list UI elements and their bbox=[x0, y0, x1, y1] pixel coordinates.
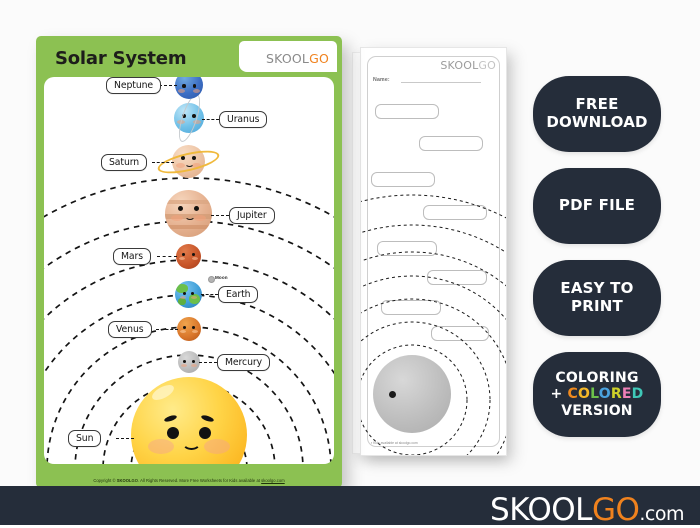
mercury-eye-left bbox=[183, 360, 186, 363]
neptune-blush-left bbox=[178, 89, 185, 93]
badge-line-2: DOWNLOAD bbox=[546, 113, 647, 131]
earth-eye-right bbox=[191, 292, 194, 295]
mars-eye-left bbox=[182, 253, 185, 256]
badge-pdf-file[interactable]: PDF FILE bbox=[533, 168, 661, 244]
label-pill-neptune[interactable]: Neptune bbox=[106, 77, 161, 94]
badge-easy-to-print[interactable]: EASY TO PRINT bbox=[533, 260, 661, 336]
sun-eye-right bbox=[199, 427, 211, 439]
screenshot-stage: SKOOLGO Name: r Kids available at skoolg bbox=[0, 0, 700, 525]
jupiter-band bbox=[165, 200, 212, 204]
moon-icon bbox=[208, 276, 215, 283]
leader-line-mercury bbox=[199, 362, 217, 363]
label-pill-mercury[interactable]: Mercury bbox=[217, 354, 270, 371]
mars-blush-right bbox=[192, 257, 198, 260]
leader-line-uranus bbox=[202, 119, 219, 120]
sun-brow-left bbox=[164, 414, 178, 423]
earth-eye-left bbox=[183, 292, 186, 295]
label-pill-earth[interactable]: Earth bbox=[218, 286, 258, 303]
leader-line-saturn bbox=[152, 162, 174, 163]
mercury-blush-left bbox=[181, 364, 187, 367]
leader-line-earth bbox=[201, 294, 218, 295]
leader-line-jupiter bbox=[211, 215, 229, 216]
worksheet-canvas: Moon bbox=[44, 77, 334, 464]
mercury-blush-right bbox=[191, 364, 197, 367]
jupiter-band bbox=[165, 225, 212, 229]
badge-line-1: COLORING bbox=[555, 370, 638, 386]
leader-line-mars bbox=[157, 256, 177, 257]
background-worksheet-front: SKOOLGO Name: r Kids available at skoolg bbox=[360, 47, 507, 456]
jupiter-eye-right bbox=[194, 206, 199, 211]
badge-line-1: FREE bbox=[575, 95, 618, 113]
venus-eye-right bbox=[192, 326, 195, 329]
label-pill-mars[interactable]: Mars bbox=[113, 248, 151, 265]
ghost-copyright: r Kids available at skoolgo.com bbox=[371, 441, 418, 445]
planet-mars bbox=[176, 244, 201, 269]
label-pill-saturn[interactable]: Saturn bbox=[101, 154, 147, 171]
mars-eye-right bbox=[192, 253, 195, 256]
leader-line-sun bbox=[116, 438, 134, 439]
planet-jupiter bbox=[165, 190, 212, 237]
jupiter-eye-left bbox=[178, 206, 183, 211]
label-pill-venus[interactable]: Venus bbox=[108, 321, 152, 338]
jupiter-blush-left bbox=[171, 215, 183, 221]
ghost-sun-eye bbox=[389, 391, 396, 398]
earth-landmass bbox=[178, 298, 186, 305]
venus-blush-right bbox=[192, 330, 198, 333]
planet-mercury bbox=[178, 351, 200, 373]
skoolgo-logo: SKOOLGO bbox=[266, 51, 329, 66]
badge-colored-word: + COLORED bbox=[551, 386, 644, 402]
sun-smile bbox=[182, 435, 201, 450]
ghost-sun bbox=[373, 355, 451, 433]
planet-venus bbox=[177, 317, 201, 341]
skoolgo-brand-logo: SKOOLGO.com bbox=[490, 492, 684, 528]
solar-system-worksheet: Solar System SKOOLGO bbox=[36, 36, 342, 488]
page-title: Solar System bbox=[55, 48, 186, 69]
label-pill-sun[interactable]: Sun bbox=[68, 430, 101, 447]
copyright-text: Copyright © SKOOLGO. All Rights Reserved… bbox=[93, 478, 284, 483]
earth-landmass bbox=[176, 284, 188, 293]
venus-blush-left bbox=[180, 330, 186, 333]
leader-line-neptune bbox=[159, 85, 177, 86]
badge-free-download[interactable]: FREE DOWNLOAD bbox=[533, 76, 661, 152]
mars-blush-left bbox=[179, 257, 185, 260]
venus-eye-left bbox=[183, 326, 186, 329]
jupiter-blush-right bbox=[194, 215, 206, 221]
leader-line-venus bbox=[156, 329, 178, 330]
sun-blush-left bbox=[148, 439, 174, 454]
jupiter-smile bbox=[185, 212, 195, 220]
moon-label: Moon bbox=[215, 275, 228, 280]
badge-line-1: EASY TO PRINT bbox=[533, 280, 661, 315]
label-pill-jupiter[interactable]: Jupiter bbox=[229, 207, 275, 224]
neptune-eye-right bbox=[193, 84, 197, 88]
neptune-eye-left bbox=[182, 84, 186, 88]
badge-line-3: VERSION bbox=[561, 403, 633, 419]
label-pill-uranus[interactable]: Uranus bbox=[219, 111, 267, 128]
mercury-eye-right bbox=[192, 360, 195, 363]
sun-eye-left bbox=[167, 427, 179, 439]
planet-earth bbox=[175, 281, 202, 308]
badge-coloring-version[interactable]: COLORING + COLORED VERSION bbox=[533, 352, 661, 437]
earth-blush-left bbox=[180, 296, 186, 299]
sun-brow-right bbox=[201, 414, 215, 423]
badge-line-1: PDF FILE bbox=[559, 197, 635, 215]
neptune-blush-right bbox=[193, 89, 200, 93]
earth-blush-right bbox=[191, 296, 197, 299]
sun-blush-right bbox=[204, 439, 230, 454]
